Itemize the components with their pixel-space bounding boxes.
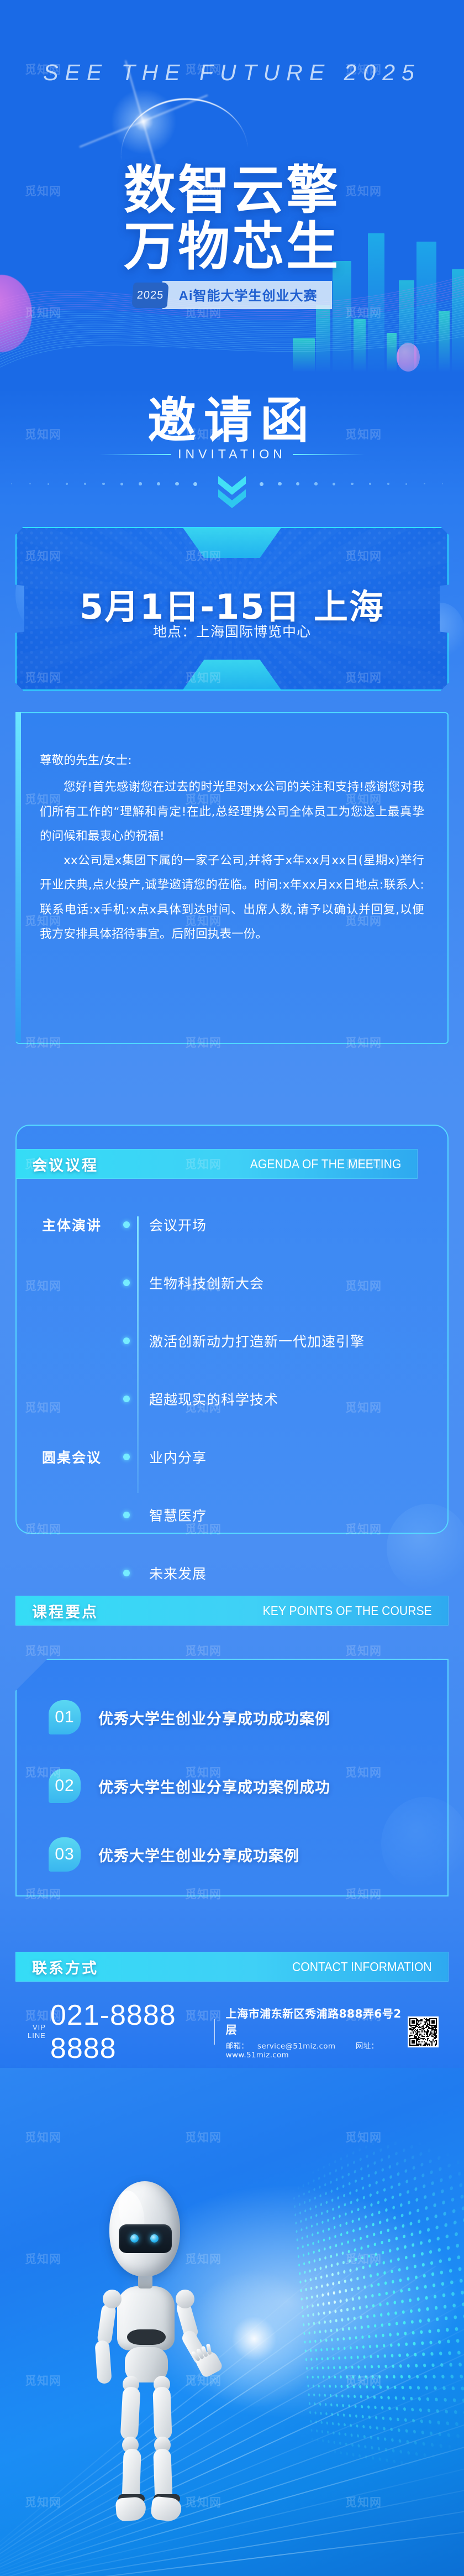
decor-dot [442, 483, 443, 484]
keypoint-row: 01优秀大学生创业分享成功成功案例 [17, 1695, 447, 1739]
agenda-row: 生物科技创新大会 [15, 1263, 449, 1302]
decor-dot [260, 482, 263, 486]
decor-dot [314, 482, 318, 485]
robot-visor [119, 2224, 172, 2253]
keypoints-banner-cn: 课程要点 [32, 1600, 98, 1622]
agenda-row: 主体演讲会议开场 [15, 1205, 449, 1244]
robot-lower-arm-left [94, 2340, 112, 2384]
decor-dot [29, 483, 31, 485]
decor-dot [157, 482, 160, 485]
email-label: 邮箱： [226, 2042, 249, 2051]
agenda-row: 激活创新动力打造新一代加速引擎 [15, 1321, 449, 1360]
contact-banner-cn: 联系方式 [32, 1956, 98, 1978]
keypoint-row: 03优秀大学生创业分享成功案例 [17, 1832, 447, 1877]
robot-eye-right [150, 2234, 159, 2243]
decor-dot [351, 483, 354, 485]
bullet-dot-icon [123, 1454, 130, 1460]
letter-salutation: 尊敬的先生/女士: [40, 749, 424, 773]
agenda-row-item: 超越现实的科学技术 [149, 1389, 278, 1409]
contact-details-row: VIP LINE 021-8888 8888 上海市浦东新区秀浦路888弄6号2… [15, 2007, 449, 2057]
poster-canvas: SEE THE FUTURE 2025 数智云擎 万物芯生 2025 Ai智能大… [0, 0, 464, 2576]
contact-meta: 邮箱：service@51miz.com 网址：www.51miz.com [226, 2040, 408, 2060]
title-line-2: 万物芯生 [0, 221, 464, 273]
decor-dot [48, 483, 49, 485]
event-date-panel: 5月1日-15日 上海 地点：上海国际博览中心 [15, 527, 449, 691]
robot-foot-left [115, 2496, 147, 2522]
agenda-banner: 会议议程 AGENDA OF THE MEETING [15, 1149, 418, 1179]
keypoint-number-badge: 01 [49, 1700, 81, 1734]
agenda-row: 超越现实的科学技术 [15, 1380, 449, 1418]
decor-dot [193, 482, 197, 486]
agenda-banner-cn: 会议议程 [32, 1153, 98, 1175]
decor-dot [296, 482, 299, 485]
invitation-title-cn: 邀请函 [0, 382, 464, 452]
year-badge: 2025 [131, 283, 168, 308]
agenda-row-item: 生物科技创新大会 [149, 1273, 264, 1293]
agenda-row-item: 会议开场 [149, 1215, 207, 1235]
invitation-title-en: INVITATION [178, 447, 286, 462]
contact-address: 上海市浦东新区秀浦路888弄6号2层 [226, 2005, 408, 2037]
agenda-list: 主体演讲会议开场生物科技创新大会激活创新动力打造新一代加速引擎超越现实的科学技术… [15, 1205, 449, 1612]
bottom-scene [0, 2068, 464, 2576]
letter-paragraph-1: 您好!首先感谢您在过去的时光里对xx公司的关注和支持!感谢您对我们所有工作的“理… [40, 775, 424, 849]
letter-paragraph-2: xx公司是x集团下属的一家子公司,并将于x年xx月xx日(星期x)举行开业庆典,… [40, 849, 424, 947]
rule-right-decor [293, 454, 365, 455]
agenda-row-item: 激活创新动力打造新一代加速引擎 [149, 1331, 365, 1351]
qr-code-icon[interactable] [408, 2016, 439, 2047]
decor-dot [278, 482, 282, 486]
keypoints-banner: 课程要点 KEY POINTS OF THE COURSE [15, 1596, 449, 1626]
contact-email[interactable]: service@51miz.com [257, 2042, 335, 2051]
decor-dot [405, 483, 407, 485]
tagline: SEE THE FUTURE 2025 [0, 60, 464, 86]
keypoints-banner-en: KEY POINTS OF THE COURSE [263, 1603, 432, 1618]
bullet-dot-icon [123, 1512, 130, 1518]
invitation-subtitle-row: INVITATION [0, 447, 464, 462]
robot-chest-accent [127, 2329, 166, 2345]
robot-hand-right [194, 2349, 224, 2379]
decor-dot [120, 483, 123, 485]
subtitle-row: 2025 Ai智能大学生创业大赛 [0, 281, 464, 309]
robot-illustration [77, 2181, 221, 2535]
decor-dot [424, 483, 425, 485]
contact-phone[interactable]: 021-8888 8888 [50, 1999, 201, 2065]
robot-shoulder-right [176, 2290, 194, 2308]
robot-thigh-left [120, 2386, 141, 2441]
contact-banner: 联系方式 CONTACT INFORMATION [15, 1952, 449, 1982]
bullet-dot-icon [123, 1337, 130, 1344]
bullet-dot-icon [123, 1570, 130, 1576]
robot-thigh-right [152, 2386, 172, 2440]
agenda-banner-en: AGENDA OF THE MEETING [250, 1157, 401, 1172]
decor-dot [175, 482, 179, 486]
title-line-1: 数智云擎 [0, 165, 464, 217]
robot-foot-right [150, 2496, 182, 2522]
agenda-row-category: 圆桌会议 [15, 1447, 126, 1467]
chevron-down-icon [0, 473, 464, 510]
robot-shoulder-left [103, 2290, 122, 2308]
email-pair: 邮箱：service@51miz.com [226, 2042, 345, 2051]
decor-dot [369, 483, 371, 485]
event-venue: 地点：上海国际博览中心 [17, 621, 447, 641]
decor-dot [333, 483, 335, 485]
keypoint-text: 优秀大学生创业分享成功成功案例 [98, 1707, 330, 1728]
dot-row-right-decor [260, 480, 453, 488]
bullet-dot-icon [123, 1396, 130, 1402]
agenda-row: 未来发展 [15, 1554, 449, 1592]
watermark-text: 觅知网 [185, 1642, 222, 1659]
contact-website[interactable]: www.51miz.com [226, 2051, 289, 2060]
agenda-row: 智慧医疗 [15, 1496, 449, 1534]
keypoints-card: 01优秀大学生创业分享成功成功案例02优秀大学生创业分享成功案例成功03优秀大学… [15, 1659, 449, 1896]
decor-dot [66, 483, 68, 485]
decor-dot [84, 483, 86, 485]
keypoint-text: 优秀大学生创业分享成功案例成功 [98, 1775, 330, 1797]
watermark-text: 觅知网 [25, 1642, 61, 1659]
invitation-letter-card: 尊敬的先生/女士: 您好!首先感谢您在过去的时光里对xx公司的关注和支持!感谢您… [15, 712, 449, 1044]
agenda-row-item: 未来发展 [149, 1563, 207, 1583]
agenda-row: 圆桌会议业内分享 [15, 1438, 449, 1476]
keypoint-text: 优秀大学生创业分享成功案例 [98, 1844, 299, 1866]
bullet-dot-icon [123, 1279, 130, 1286]
keypoint-number-badge: 03 [49, 1837, 81, 1872]
watermark-text: 觅知网 [345, 1642, 382, 1659]
rule-left-decor [99, 454, 171, 455]
dot-row-left-decor [11, 480, 204, 488]
agenda-row-item: 智慧医疗 [149, 1505, 207, 1525]
keypoint-number-badge: 02 [49, 1769, 81, 1803]
contact-banner-en: CONTACT INFORMATION [292, 1960, 432, 1974]
vip-label-line1: VIP [28, 2024, 46, 2032]
agenda-row-category: 主体演讲 [15, 1215, 126, 1235]
divider-decor [214, 2019, 215, 2045]
address-block: 上海市浦东新区秀浦路888弄6号2层 邮箱：service@51miz.com … [226, 2005, 408, 2060]
robot-eye-left [130, 2234, 139, 2243]
vip-line-label: VIP LINE [28, 2024, 46, 2040]
decor-dot [139, 482, 142, 485]
event-subtitle: Ai智能大学生创业大赛 [162, 281, 332, 309]
vip-label-line2: LINE [28, 2032, 46, 2040]
decor-dot [11, 483, 12, 484]
agenda-row-item: 业内分享 [149, 1447, 207, 1467]
website-label: 网址： [356, 2042, 378, 2051]
keypoint-row: 02优秀大学生创业分享成功案例成功 [17, 1764, 447, 1808]
robot-upper-arm-left [97, 2303, 117, 2346]
decor-dot [102, 483, 105, 485]
decor-dot [387, 483, 389, 485]
bullet-dot-icon [123, 1221, 130, 1228]
